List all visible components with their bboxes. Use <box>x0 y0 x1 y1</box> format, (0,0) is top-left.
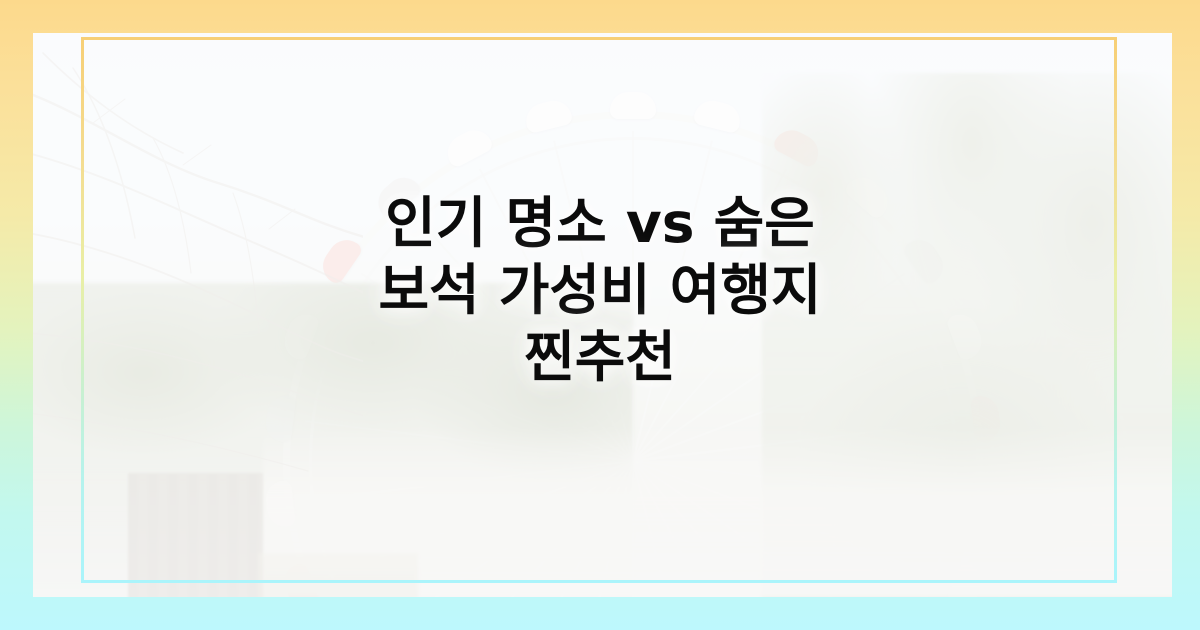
title-line-3: 찐추천 <box>290 324 910 391</box>
title-line-1: 인기 명소 vs 숨은 <box>290 190 910 257</box>
thumbnail-card: 인기 명소 vs 숨은 보석 가성비 여행지 찐추천 <box>0 0 1200 630</box>
page-title: 인기 명소 vs 숨은 보석 가성비 여행지 찐추천 <box>290 190 910 391</box>
title-line-2: 보석 가성비 여행지 <box>290 257 910 324</box>
headline-container: 인기 명소 vs 숨은 보석 가성비 여행지 찐추천 <box>0 0 1200 630</box>
